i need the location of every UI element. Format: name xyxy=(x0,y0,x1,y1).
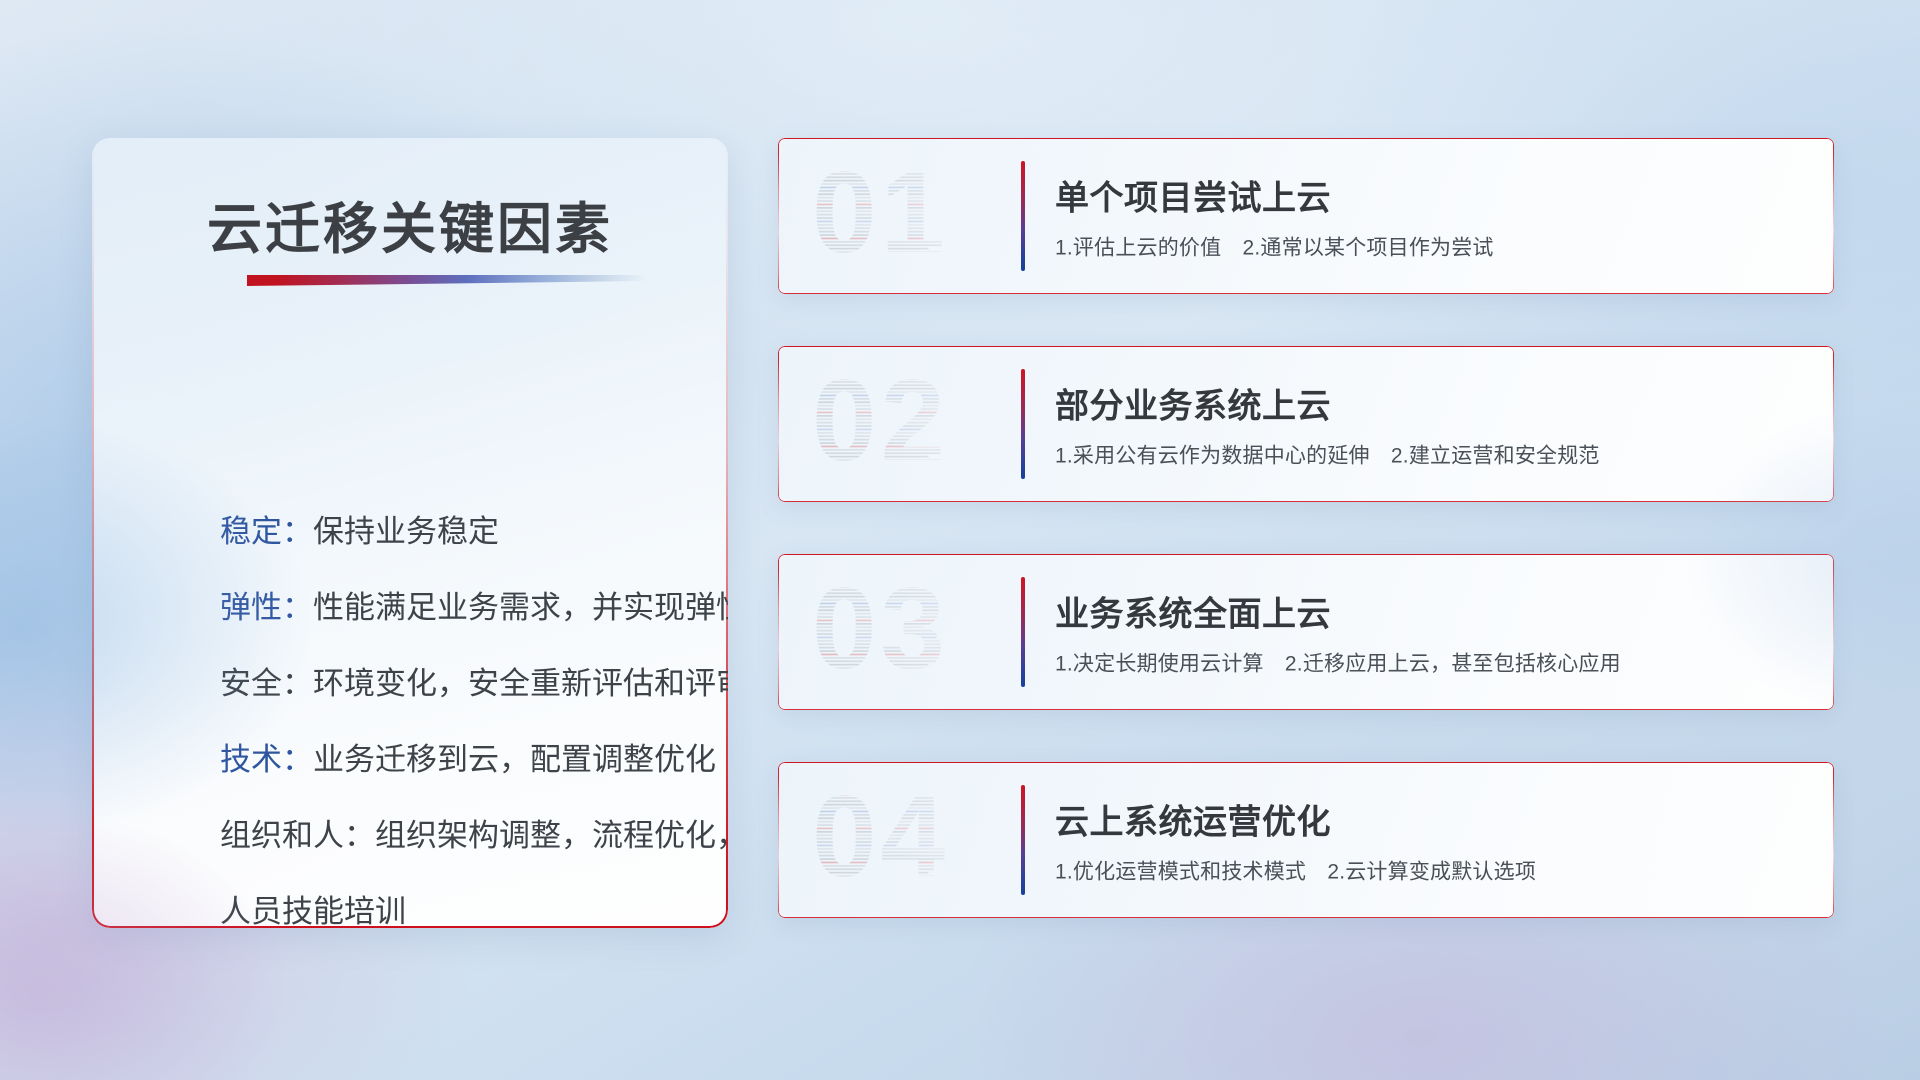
factor-label: 组织和人： xyxy=(220,818,375,853)
step-divider-bar xyxy=(1021,785,1025,895)
step-title: 部分业务系统上云 xyxy=(1055,379,1810,428)
step-card-04[interactable]: 04云上系统运营优化1.优化运营模式和技术模式 2.云计算变成默认选项 xyxy=(778,762,1834,918)
step-body: 业务系统全面上云1.决定长期使用云计算 2.迁移应用上云，甚至包括核心应用 xyxy=(1055,587,1810,678)
step-number-watermark: 04 xyxy=(812,784,1012,896)
step-title: 云上系统运营优化 xyxy=(1055,795,1810,844)
step-divider-bar xyxy=(1021,369,1025,479)
factor-label: 技术： xyxy=(220,742,313,777)
step-number-watermark: 01 xyxy=(812,160,1012,272)
slide-canvas: 云迁移关键因素 稳定：保持业务稳定弹性：性能满足业务需求，并实现弹性安全：环境变… xyxy=(0,0,1920,1080)
cloud-migration-steps: 01单个项目尝试上云1.评估上云的价值 2.通常以某个项目作为尝试02部分业务系… xyxy=(778,138,1834,918)
factor-label: 稳定： xyxy=(220,514,313,549)
page-title: 云迁移关键因素 xyxy=(92,184,728,264)
step-title: 单个项目尝试上云 xyxy=(1055,171,1810,220)
factor-row: 稳定：保持业务稳定 xyxy=(220,516,688,547)
step-number-watermark: 03 xyxy=(812,576,1012,688)
title-underline-rule xyxy=(247,275,647,286)
step-body: 部分业务系统上云1.采用公有云作为数据中心的延伸 2.建立运营和安全规范 xyxy=(1055,379,1810,470)
key-factors-panel: 云迁移关键因素 稳定：保持业务稳定弹性：性能满足业务需求，并实现弹性安全：环境变… xyxy=(92,138,728,928)
factor-label: 安全： xyxy=(220,666,313,701)
factor-row: 人员技能培训 xyxy=(220,896,688,927)
factor-text: 组织架构调整，流程优化， xyxy=(375,818,728,853)
step-description: 1.优化运营模式和技术模式 2.云计算变成默认选项 xyxy=(1055,856,1810,886)
factor-text: 性能满足业务需求，并实现弹性 xyxy=(313,590,728,625)
step-divider-bar xyxy=(1021,161,1025,271)
step-card-03[interactable]: 03业务系统全面上云1.决定长期使用云计算 2.迁移应用上云，甚至包括核心应用 xyxy=(778,554,1834,710)
step-card-02[interactable]: 02部分业务系统上云1.采用公有云作为数据中心的延伸 2.建立运营和安全规范 xyxy=(778,346,1834,502)
step-description: 1.采用公有云作为数据中心的延伸 2.建立运营和安全规范 xyxy=(1055,440,1810,470)
step-body: 云上系统运营优化1.优化运营模式和技术模式 2.云计算变成默认选项 xyxy=(1055,795,1810,886)
factor-list: 稳定：保持业务稳定弹性：性能满足业务需求，并实现弹性安全：环境变化，安全重新评估… xyxy=(220,516,688,927)
factor-row: 组织和人：组织架构调整，流程优化， xyxy=(220,820,688,851)
step-divider-bar xyxy=(1021,577,1025,687)
factor-text: 保持业务稳定 xyxy=(313,514,499,549)
step-card-01[interactable]: 01单个项目尝试上云1.评估上云的价值 2.通常以某个项目作为尝试 xyxy=(778,138,1834,294)
factor-text: 人员技能培训 xyxy=(220,894,406,928)
factor-row: 技术：业务迁移到云，配置调整优化 xyxy=(220,744,688,775)
factor-label: 弹性： xyxy=(220,590,313,625)
factor-text: 环境变化，安全重新评估和评审 xyxy=(313,666,728,701)
step-description: 1.评估上云的价值 2.通常以某个项目作为尝试 xyxy=(1055,232,1810,262)
step-number-watermark: 02 xyxy=(812,368,1012,480)
step-description: 1.决定长期使用云计算 2.迁移应用上云，甚至包括核心应用 xyxy=(1055,648,1810,678)
factor-text: 业务迁移到云，配置调整优化 xyxy=(313,742,716,777)
factor-row: 弹性：性能满足业务需求，并实现弹性 xyxy=(220,592,688,623)
step-body: 单个项目尝试上云1.评估上云的价值 2.通常以某个项目作为尝试 xyxy=(1055,171,1810,262)
step-title: 业务系统全面上云 xyxy=(1055,587,1810,636)
factor-row: 安全：环境变化，安全重新评估和评审 xyxy=(220,668,688,699)
